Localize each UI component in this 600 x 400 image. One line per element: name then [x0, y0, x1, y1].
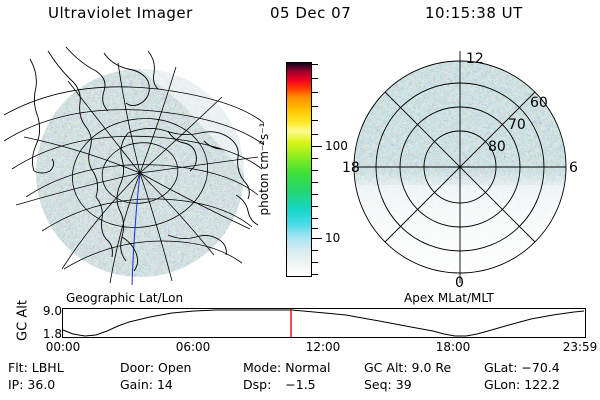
mlat-label-80: 80: [488, 139, 506, 155]
orbit-xtick-1: 06:00: [176, 340, 211, 354]
status-flt-value: LBHL: [32, 360, 64, 375]
status-gain: Gain: 14: [120, 377, 173, 392]
status-row-1: Flt: LBHL Door: Open Mode: Normal GC Alt…: [0, 360, 600, 378]
mlt-label-18: 18: [342, 160, 360, 176]
status-door-label: Door:: [120, 360, 154, 375]
apex-mlt-polar-panel[interactable]: 12 6 0 18 60 70 80 Apex MLat/MLT: [338, 45, 588, 290]
observation-time: 10:15:38 UT: [425, 4, 523, 22]
orbit-y-tick-labels: 9.0 1.8: [32, 300, 62, 342]
mlt-spokes: [354, 51, 566, 283]
status-seq-label: Seq:: [364, 377, 392, 392]
status-door: Door: Open: [120, 360, 191, 375]
status-glat-label: GLat:: [484, 360, 517, 375]
status-flt: Flt: LBHL: [8, 360, 64, 375]
status-seq-value: 39: [396, 377, 412, 392]
apex-polar-plot-svg: 12 6 0 18 60 70 80: [338, 45, 588, 290]
status-gain-label: Gain:: [120, 377, 153, 392]
orbit-xtick-2: 12:00: [306, 340, 341, 354]
mlt-label-6: 6: [569, 160, 578, 176]
mlt-label-0: 0: [455, 275, 464, 291]
orbit-altitude-curve: [63, 310, 584, 336]
status-dsp-label: Dsp:: [243, 377, 271, 392]
status-glat: GLat: −70.4: [484, 360, 560, 375]
mlt-label-12: 12: [466, 51, 484, 67]
colorbar-gradient: [287, 63, 311, 276]
mlat-label-70: 70: [508, 117, 526, 133]
status-mode-label: Mode:: [243, 360, 281, 375]
status-ip-label: IP:: [8, 377, 23, 392]
orbit-altitude-strip[interactable]: GC Alt 9.0 1.8 00:00 06:00 12:00 18:00 2…: [0, 300, 600, 346]
status-gc-alt-label: GC Alt:: [364, 360, 408, 375]
status-door-value: Open: [158, 360, 191, 375]
orbit-x-tick-labels: 00:00 06:00 12:00 18:00 23:59: [0, 340, 600, 356]
status-glon: GLon: 122.2: [484, 377, 560, 392]
orbit-plot-box[interactable]: [62, 308, 586, 338]
orbit-ytick-max: 9.0: [43, 304, 62, 318]
orbit-xtick-0: 00:00: [46, 340, 81, 354]
orbit-xtick-3: 18:00: [436, 340, 471, 354]
orbit-track-svg: [63, 309, 585, 337]
status-row-2: IP: 36.0 Gain: 14 Dsp: −1.5 Seq: 39 GLon…: [0, 377, 600, 395]
geographic-image-panel[interactable]: Geographic Lat/Lon: [8, 45, 258, 290]
instrument-title: Ultraviolet Imager: [48, 4, 193, 22]
colorbar-axis-label: photon cm⁻²s⁻¹: [248, 100, 268, 250]
status-glon-label: GLon:: [484, 377, 520, 392]
status-gc-alt-value: 9.0 Re: [412, 360, 452, 375]
orbit-ytick-min: 1.8: [43, 327, 62, 341]
observation-date: 05 Dec 07: [270, 4, 351, 22]
status-glat-value: −70.4: [521, 360, 559, 375]
status-seq: Seq: 39: [364, 377, 412, 392]
orbit-y-axis-label: GC Alt: [14, 300, 32, 342]
status-dsp-value: −1.5: [285, 377, 315, 392]
status-ip-value: 36.0: [27, 377, 55, 392]
geographic-plot-svg: [8, 45, 258, 290]
colorbar-unit-text: photon cm⁻²s⁻¹: [257, 89, 271, 249]
status-mode-value: Normal: [285, 360, 330, 375]
status-ip: IP: 36.0: [8, 377, 55, 392]
colorbar: [286, 62, 312, 277]
header-bar: Ultraviolet Imager 05 Dec 07 10:15:38 UT: [0, 4, 600, 32]
orbit-y-axis-text: GC Alt: [16, 298, 31, 344]
status-flt-label: Flt:: [8, 360, 28, 375]
status-block: Flt: LBHL Door: Open Mode: Normal GC Alt…: [0, 360, 600, 398]
status-gain-value: 14: [157, 377, 173, 392]
status-glon-value: 122.2: [524, 377, 560, 392]
status-gc-alt: GC Alt: 9.0 Re: [364, 360, 451, 375]
status-dsp: Dsp: −1.5: [243, 377, 316, 392]
status-mode: Mode: Normal: [243, 360, 331, 375]
orbit-xtick-4: 23:59: [563, 340, 598, 354]
mlat-label-60: 60: [530, 95, 548, 111]
